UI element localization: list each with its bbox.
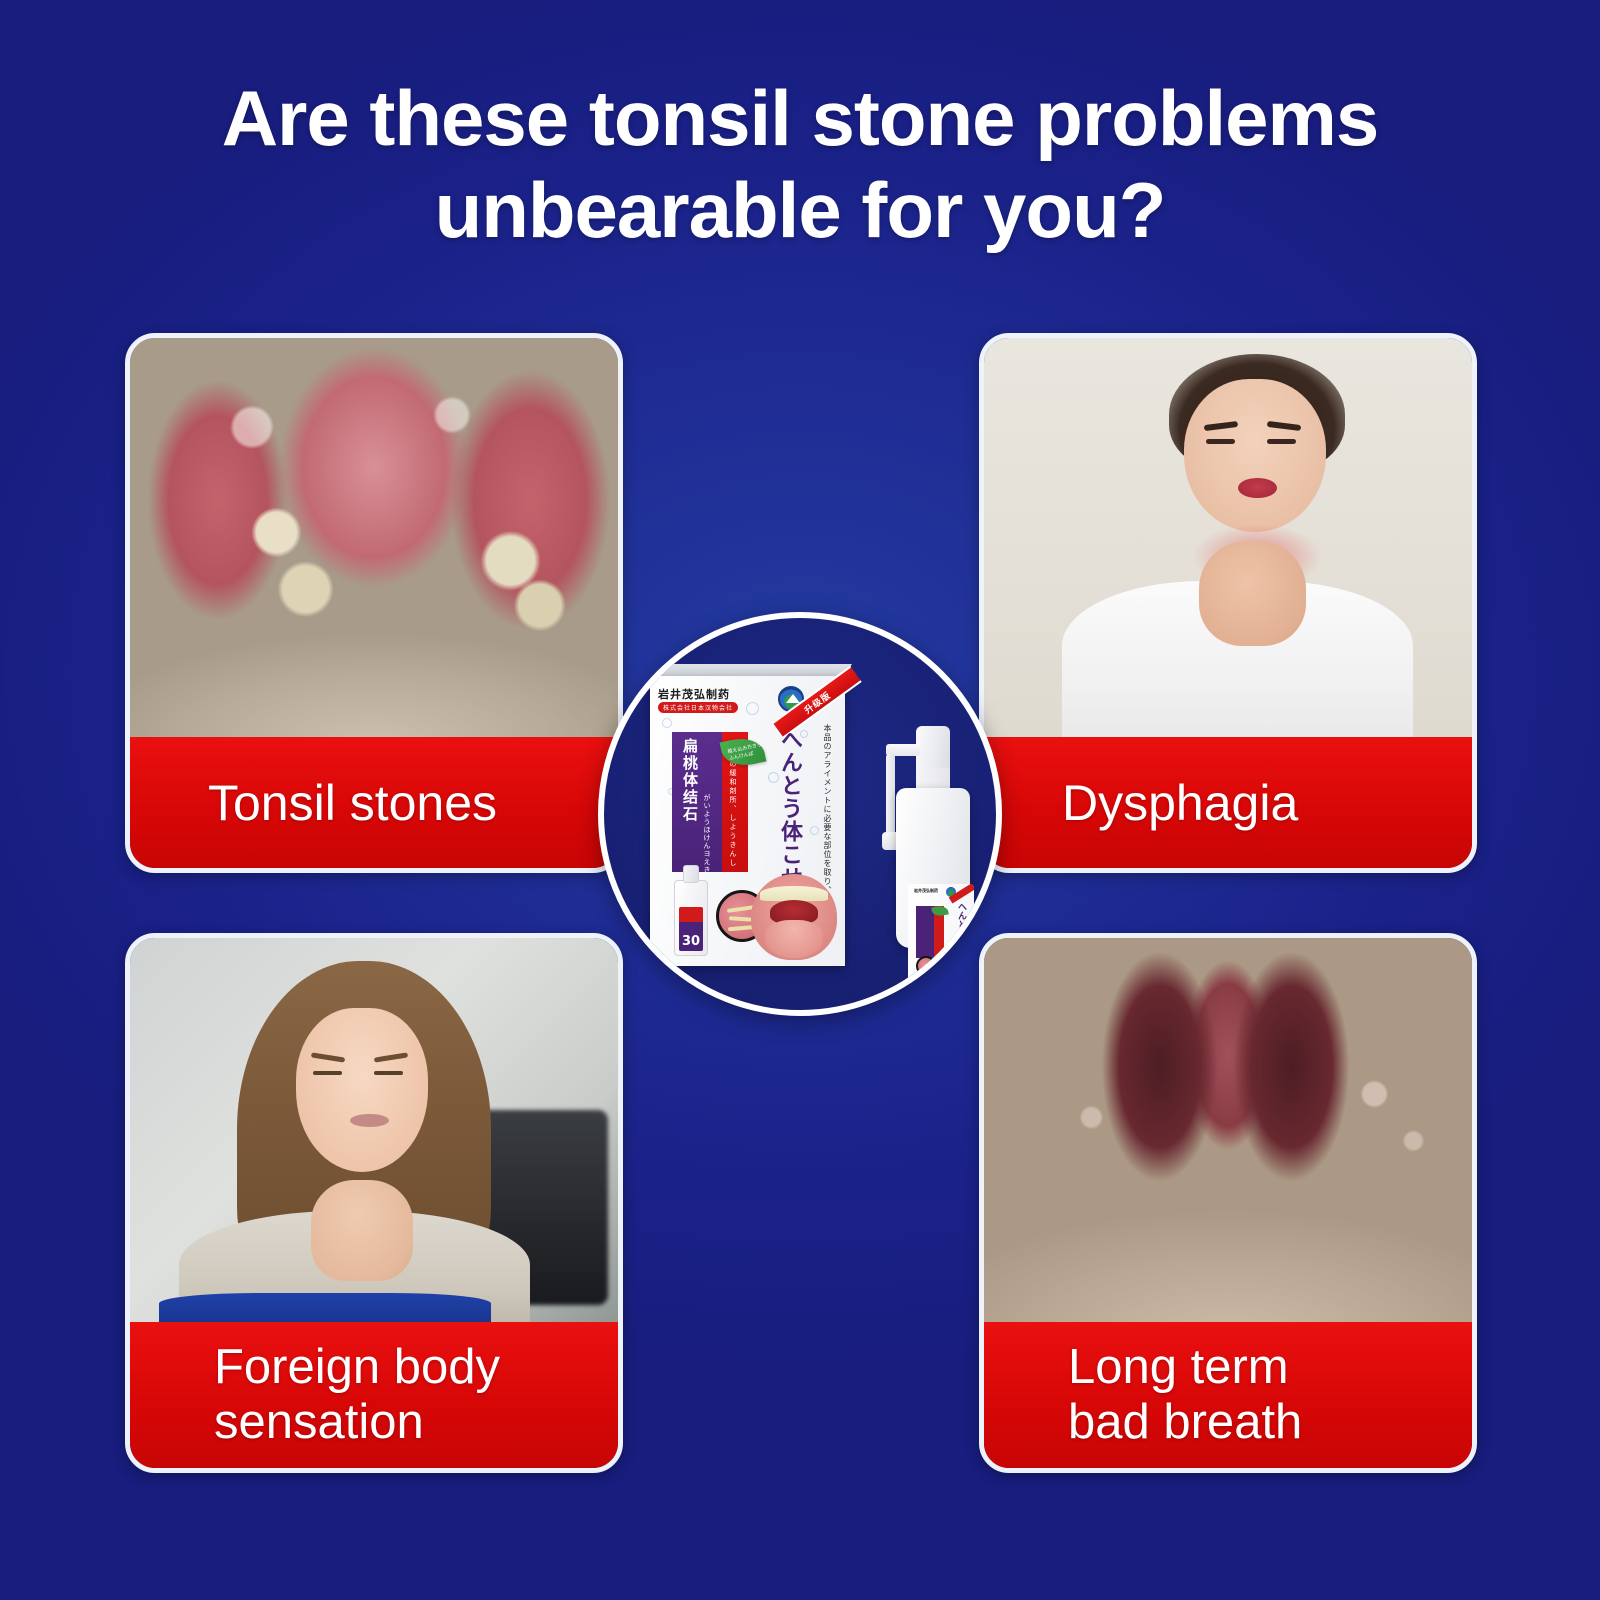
headline-line-1: Are these tonsil stone problems — [222, 74, 1379, 162]
caucasian-woman-throat-illustration — [130, 938, 618, 1328]
photo-inflamed-throat — [984, 938, 1472, 1328]
mini-bottle-volume-label: 30 — [679, 907, 703, 951]
bottle-mouth-illustration — [942, 952, 970, 978]
caption-dysphagia: Dysphagia — [984, 737, 1472, 868]
asian-woman-sore-throat-illustration — [984, 338, 1472, 743]
dark-throat-illustration — [984, 938, 1472, 1328]
mouth-shape — [1238, 478, 1277, 498]
caption-line: Long term — [1068, 1340, 1289, 1395]
spray-bottle-label: 岩井茂弘制药 へんとう体こせき — [908, 884, 974, 990]
leaf-badge-text: 植え込み方きりふんけんぽ — [727, 742, 765, 762]
teeth-shape — [760, 886, 829, 901]
photo-foreign-body-woman — [130, 938, 618, 1328]
mini-bottle-cap — [683, 865, 699, 883]
photo-tonsil-stones — [130, 338, 618, 743]
caption-tonsil-stones: Tonsil stones — [130, 737, 618, 868]
eye-left — [313, 1071, 342, 1075]
caption-line: bad breath — [1068, 1395, 1302, 1450]
hand-on-throat — [1199, 541, 1306, 646]
mouth-shape — [350, 1114, 389, 1127]
bottle-label-purple-block — [916, 906, 934, 958]
caption-line: Dysphagia — [1062, 775, 1298, 831]
box-brand-subtext: 株式会社日本汉物会社 — [658, 702, 738, 713]
caption-long-term-bad-breath: Long term bad breath — [984, 1322, 1472, 1468]
face-shape — [296, 1008, 428, 1172]
caption-foreign-body-sensation: Foreign body sensation — [130, 1322, 618, 1468]
bottle-label-brand: 岩井茂弘制药 — [914, 888, 938, 894]
spray-cap — [916, 726, 950, 772]
symptom-panel-foreign-body-sensation[interactable]: Foreign body sensation — [125, 933, 623, 1473]
product-spotlight-circle[interactable]: 岩井茂弘制药 株式会社日本汉物会社 升级版 扁桃体结石 がいようほけんヨえき 疼… — [598, 612, 1002, 1016]
bottle-tonsil-zoom-icon — [916, 956, 936, 976]
caption-line: Foreign body — [214, 1340, 500, 1395]
product-spray-bottle: 岩井茂弘制药 へんとう体こせき — [888, 716, 970, 948]
symptom-panel-tonsil-stones[interactable]: Tonsil stones — [125, 333, 623, 873]
product-box: 岩井茂弘制药 株式会社日本汉物会社 升级版 扁桃体结石 がいようほけんヨえき 疼… — [650, 676, 845, 966]
hand-on-throat — [311, 1180, 413, 1281]
box-purple-vertical-text: 扁桃体结石 — [680, 738, 701, 823]
open-mouth-throat-illustration — [751, 874, 837, 960]
symptom-panel-long-term-bad-breath[interactable]: Long term bad breath — [979, 933, 1477, 1473]
spray-bottle-body: 岩井茂弘制药 へんとう体こせき — [896, 788, 970, 948]
eye-right — [374, 1071, 403, 1075]
eye-left — [1206, 439, 1235, 444]
box-brand-text: 岩井茂弘制药 — [658, 686, 778, 702]
eye-right — [1267, 439, 1296, 444]
caption-line: sensation — [214, 1395, 424, 1450]
symptom-panel-dysphagia[interactable]: Dysphagia — [979, 333, 1477, 873]
photo-dysphagia-woman — [984, 338, 1472, 743]
throat-stones-illustration — [130, 338, 618, 743]
caption-line: Tonsil stones — [208, 775, 497, 831]
bottle-label-bottom-bar — [914, 981, 956, 987]
face-shape — [1184, 379, 1326, 533]
box-purple-vertical-subtext: がいようほけんヨえき — [702, 794, 712, 874]
box-mini-bottle-illustration: 30 — [674, 880, 708, 956]
headline-line-2: unbearable for you? — [90, 164, 1510, 256]
page-title: Are these tonsil stone problems unbearab… — [0, 72, 1600, 256]
